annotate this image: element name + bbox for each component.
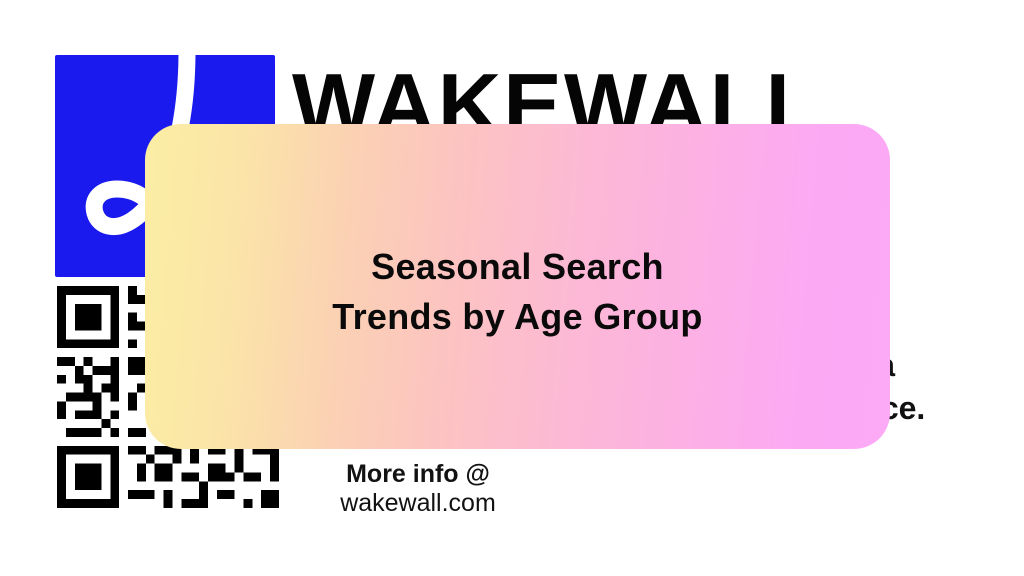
card-title-line-2: Trends by Age Group	[185, 292, 850, 342]
card-title: Seasonal Search Trends by Age Group	[145, 242, 890, 341]
overlay-gradient-card: Seasonal Search Trends by Age Group	[145, 124, 890, 449]
more-info-url[interactable]: wakewall.com	[318, 489, 518, 518]
poster-canvas: WAKEWALL w ces, business listings, and a…	[0, 0, 1024, 576]
more-info-label: More info @	[318, 460, 518, 489]
card-title-line-1: Seasonal Search	[185, 242, 850, 292]
more-info-block: More info @ wakewall.com	[318, 460, 518, 518]
